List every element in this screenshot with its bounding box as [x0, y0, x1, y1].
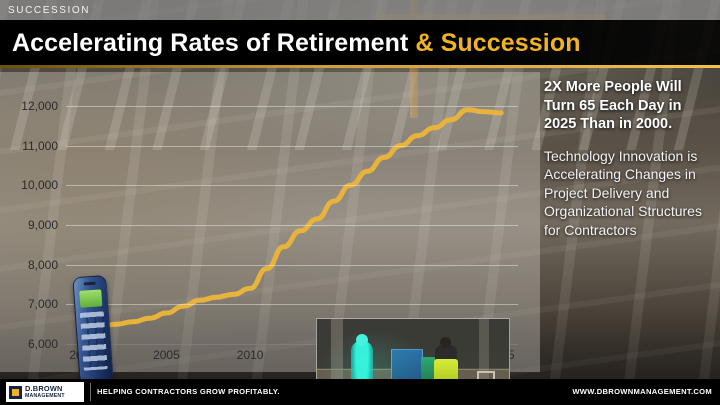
section-kicker: SUCCESSION [0, 5, 90, 16]
chart-gridline [66, 225, 518, 226]
title-accent: & Succession [415, 29, 580, 57]
chart-gridline [66, 265, 518, 266]
logo-mark-icon [9, 386, 22, 399]
chart-x-tick-label: 2010 [237, 348, 264, 362]
chart-y-tick-label: 12,000 [21, 99, 58, 113]
chart-y-axis-labels: 6,0007,0008,0009,00010,00011,00012,000 [0, 72, 64, 372]
slide: SUCCESSION Accelerating Rates of Retirem… [0, 0, 720, 405]
right-text-column: 2X More People Will Turn 65 Each Day in … [544, 78, 716, 240]
title-main: Accelerating Rates of Retirement [12, 29, 415, 57]
chart-plot-area [66, 86, 518, 344]
chart-series-layer [66, 86, 518, 344]
footer-tagline: HELPING CONTRACTORS GROW PROFITABLY. [97, 387, 280, 396]
chart-y-tick-label: 10,000 [21, 178, 58, 192]
chart-container: 6,0007,0008,0009,00010,00011,00012,000 2… [0, 72, 540, 372]
chart-gridline [66, 106, 518, 107]
title-accent-rule [0, 65, 720, 68]
page-title: Accelerating Rates of Retirement & Succe… [12, 29, 581, 58]
footer-url[interactable]: WWW.DBROWNMANAGEMENT.COM [572, 387, 712, 396]
footer-bar: D.BROWN MANAGEMENT HELPING CONTRACTORS G… [0, 379, 720, 405]
brand-logo: D.BROWN MANAGEMENT [6, 382, 84, 402]
chart-x-tick-label: 2005 [153, 348, 180, 362]
logo-line-2: MANAGEMENT [25, 394, 65, 399]
chart-gridline [66, 146, 518, 147]
chart-y-tick-label: 11,000 [22, 139, 58, 153]
chart-y-tick-label: 7,000 [28, 297, 58, 311]
logo-line-1: D.BROWN [25, 385, 65, 392]
right-headline: 2X More People Will Turn 65 Each Day in … [544, 78, 716, 134]
footer-divider [90, 383, 91, 401]
top-bar: SUCCESSION [0, 0, 720, 20]
chart-line-series [66, 86, 518, 344]
title-band: Accelerating Rates of Retirement & Succe… [0, 20, 720, 68]
chart-gridline [66, 185, 518, 186]
chart-gridline [66, 304, 518, 305]
chart-y-tick-label: 9,000 [28, 218, 58, 232]
chart-y-tick-label: 6,000 [28, 337, 58, 351]
right-body-text: Technology Innovation is Accelerating Ch… [544, 147, 716, 240]
chart-y-tick-label: 8,000 [28, 258, 58, 272]
